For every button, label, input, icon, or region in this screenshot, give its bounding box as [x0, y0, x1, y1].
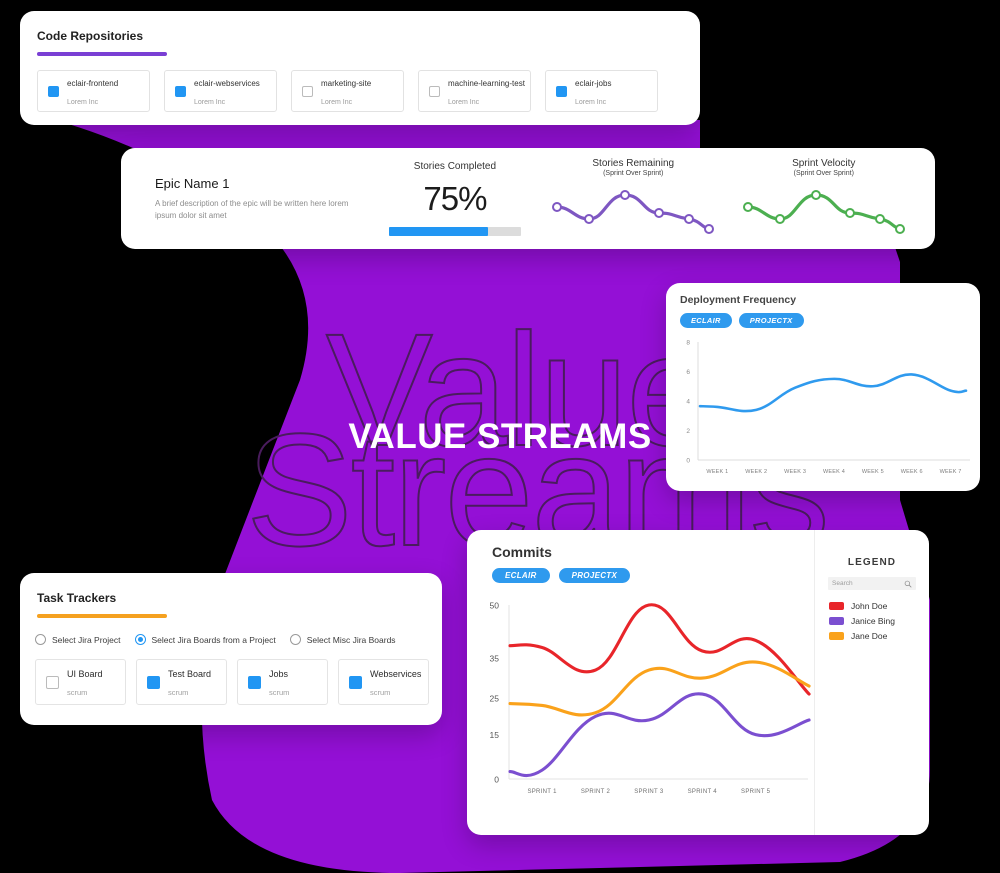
radio-select-jira-boards[interactable]: Select Jira Boards from a Project	[135, 634, 276, 645]
stories-completed-metric: Stories Completed 75%	[372, 161, 538, 236]
repository-item[interactable]: eclair-frontend Lorem Inc	[37, 70, 150, 112]
sprint-velocity-metric: Sprint Velocity (Sprint Over Sprint)	[729, 158, 920, 240]
repository-item[interactable]: eclair-webservices Lorem Inc	[164, 70, 277, 112]
svg-text:WEEK 2: WEEK 2	[745, 469, 767, 475]
commits-chart-area: Commits ECLAIR PROJECTX 015253550SPRINT …	[467, 530, 814, 835]
svg-text:0: 0	[494, 775, 499, 785]
sprint-velocity-sparkline	[729, 185, 920, 240]
legend-panel: LEGEND Search John Doe Janice Bi	[814, 530, 929, 835]
svg-text:15: 15	[490, 730, 500, 740]
canvas: Value Streams VALUE STREAMS Code Reposit…	[0, 0, 1000, 873]
commits-card: Commits ECLAIR PROJECTX 015253550SPRINT …	[467, 530, 929, 835]
legend-item[interactable]: Janice Bing	[829, 616, 929, 626]
radio-select-jira-project[interactable]: Select Jira Project	[35, 634, 121, 645]
board-item[interactable]: UI Board scrum	[35, 659, 126, 705]
board-subtitle: scrum	[168, 688, 188, 697]
pill-projectx[interactable]: PROJECTX	[739, 313, 804, 328]
board-item[interactable]: Webservices scrum	[338, 659, 429, 705]
svg-text:WEEK 4: WEEK 4	[823, 469, 845, 475]
repository-list: eclair-frontend Lorem Inc eclair-webserv…	[37, 70, 700, 112]
deployment-frequency-card: Deployment Frequency ECLAIR PROJECTX 024…	[666, 283, 980, 491]
svg-text:50: 50	[490, 601, 500, 611]
checkbox-icon[interactable]	[302, 86, 313, 97]
svg-text:WEEK 6: WEEK 6	[901, 469, 923, 475]
repository-item[interactable]: machine-learning-test Lorem Inc	[418, 70, 531, 112]
legend-swatch	[829, 617, 844, 625]
legend-item[interactable]: John Doe	[829, 601, 929, 611]
epic-summary-card: Epic Name 1 A brief description of the e…	[121, 148, 935, 249]
svg-text:SPRINT 5: SPRINT 5	[741, 789, 771, 795]
svg-text:WEEK 1: WEEK 1	[706, 469, 728, 475]
tracker-radio-group: Select Jira Project Select Jira Boards f…	[35, 634, 442, 645]
svg-text:2: 2	[686, 428, 690, 435]
sprint-velocity-subtitle: (Sprint Over Sprint)	[729, 170, 920, 177]
legend-label: Janice Bing	[851, 616, 895, 626]
title-underline	[37, 52, 167, 56]
board-subtitle: scrum	[67, 688, 87, 697]
checkbox-icon[interactable]	[147, 676, 160, 689]
radio-label: Select Misc Jira Boards	[307, 635, 396, 645]
stories-remaining-sparkline	[538, 185, 729, 240]
checkbox-icon[interactable]	[349, 676, 362, 689]
svg-text:8: 8	[686, 340, 690, 347]
epic-name: Epic Name 1	[155, 176, 372, 191]
legend-entries: John Doe Janice Bing Jane Doe	[829, 601, 929, 641]
repository-name: eclair-frontend	[67, 79, 118, 88]
radio-icon[interactable]	[290, 634, 301, 645]
board-item[interactable]: Jobs scrum	[237, 659, 328, 705]
sprint-velocity-title: Sprint Velocity	[729, 158, 920, 169]
code-repositories-title: Code Repositories	[37, 29, 700, 43]
repository-subtitle: Lorem Inc	[448, 99, 479, 106]
search-placeholder: Search	[832, 580, 853, 587]
svg-text:WEEK 5: WEEK 5	[862, 469, 884, 475]
legend-label: John Doe	[851, 601, 887, 611]
stories-remaining-metric: Stories Remaining (Sprint Over Sprint)	[538, 158, 729, 240]
board-name: Webservices	[370, 669, 421, 679]
legend-swatch	[829, 602, 844, 610]
svg-text:WEEK 3: WEEK 3	[784, 469, 806, 475]
pill-eclair[interactable]: ECLAIR	[492, 568, 550, 583]
legend-item[interactable]: Jane Doe	[829, 631, 929, 641]
radio-select-misc-boards[interactable]: Select Misc Jira Boards	[290, 634, 396, 645]
svg-text:0: 0	[686, 458, 690, 465]
repository-subtitle: Lorem Inc	[321, 99, 352, 106]
commits-title: Commits	[492, 544, 814, 560]
stories-remaining-subtitle: (Sprint Over Sprint)	[538, 170, 729, 177]
epic-info: Epic Name 1 A brief description of the e…	[137, 176, 372, 222]
svg-text:SPRINT 4: SPRINT 4	[688, 789, 718, 795]
svg-text:SPRINT 3: SPRINT 3	[634, 789, 664, 795]
task-trackers-card: Task Trackers Select Jira Project Select…	[20, 573, 442, 725]
legend-label: Jane Doe	[851, 631, 887, 641]
legend-title: LEGEND	[815, 557, 929, 568]
pill-eclair[interactable]: ECLAIR	[680, 313, 732, 328]
radio-label: Select Jira Boards from a Project	[152, 635, 276, 645]
repository-name: eclair-jobs	[575, 79, 611, 88]
repository-subtitle: Lorem Inc	[194, 99, 225, 106]
stories-remaining-title: Stories Remaining	[538, 158, 729, 169]
board-name: Test Board	[168, 669, 211, 679]
board-name: UI Board	[67, 669, 103, 679]
repository-item[interactable]: eclair-jobs Lorem Inc	[545, 70, 658, 112]
svg-text:25: 25	[490, 694, 500, 704]
commits-chart: 015253550SPRINT 1SPRINT 2SPRINT 3SPRINT …	[467, 583, 814, 816]
title-underline	[37, 614, 167, 618]
task-trackers-title: Task Trackers	[37, 591, 442, 605]
repository-name: eclair-webservices	[194, 79, 260, 88]
checkbox-icon[interactable]	[556, 86, 567, 97]
pill-projectx[interactable]: PROJECTX	[559, 568, 631, 583]
repository-name: marketing-site	[321, 79, 371, 88]
checkbox-icon[interactable]	[48, 86, 59, 97]
epic-description: A brief description of the epic will be …	[155, 198, 360, 222]
search-icon[interactable]	[904, 580, 912, 588]
checkbox-icon[interactable]	[175, 86, 186, 97]
commits-filter-pills: ECLAIR PROJECTX	[492, 568, 814, 583]
legend-swatch	[829, 632, 844, 640]
board-item[interactable]: Test Board scrum	[136, 659, 227, 705]
stories-completed-title: Stories Completed	[372, 161, 538, 172]
radio-icon-selected[interactable]	[135, 634, 146, 645]
checkbox-icon[interactable]	[248, 676, 261, 689]
code-repositories-card: Code Repositories eclair-frontend Lorem …	[20, 11, 700, 125]
svg-text:35: 35	[490, 654, 500, 664]
repository-name: machine-learning-test	[448, 79, 525, 88]
board-list: UI Board scrum Test Board scrum Jobs scr…	[35, 659, 442, 705]
repository-item[interactable]: marketing-site Lorem Inc	[291, 70, 404, 112]
svg-text:4: 4	[686, 399, 690, 406]
svg-text:WEEK 7: WEEK 7	[940, 469, 962, 475]
checkbox-icon[interactable]	[429, 86, 440, 97]
radio-label: Select Jira Project	[52, 635, 121, 645]
deployment-frequency-chart: 02468WEEK 1WEEK 2WEEK 3WEEK 4WEEK 5WEEK …	[666, 334, 980, 491]
svg-text:6: 6	[686, 369, 690, 376]
board-subtitle: scrum	[269, 688, 289, 697]
deployment-frequency-title: Deployment Frequency	[680, 294, 980, 306]
svg-text:SPRINT 1: SPRINT 1	[527, 789, 557, 795]
repository-subtitle: Lorem Inc	[575, 99, 606, 106]
repository-subtitle: Lorem Inc	[67, 99, 98, 106]
board-name: Jobs	[269, 669, 288, 679]
stories-completed-value: 75%	[372, 180, 538, 218]
checkbox-icon[interactable]	[46, 676, 59, 689]
deployment-filter-pills: ECLAIR PROJECTX	[680, 313, 980, 328]
radio-icon[interactable]	[35, 634, 46, 645]
stories-completed-progressbar	[389, 227, 521, 236]
svg-text:SPRINT 2: SPRINT 2	[581, 789, 611, 795]
legend-search-input[interactable]: Search	[828, 577, 916, 590]
board-subtitle: scrum	[370, 688, 390, 697]
